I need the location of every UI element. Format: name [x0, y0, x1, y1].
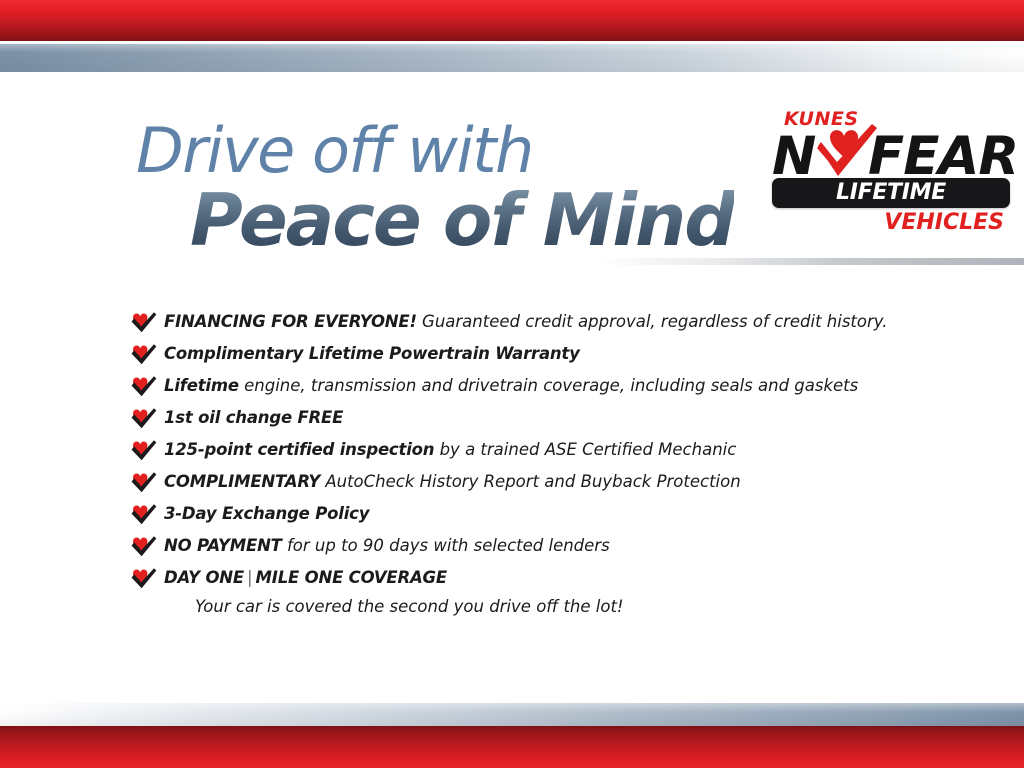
list-item-text: 3-Day Exchange Policy: [164, 498, 970, 530]
list-item: 3-Day Exchange Policy: [130, 498, 970, 530]
heart-check-icon: [130, 311, 157, 334]
top-red-bar: [0, 0, 1024, 41]
logo-certification-banner: LIFETIME CERTIFIED: [772, 178, 1010, 208]
heart-check-icon: [130, 407, 157, 430]
list-item-bold: 125-point certified inspection: [164, 440, 434, 459]
list-item: Lifetime engine, transmission and drivet…: [130, 370, 970, 402]
list-item: NO PAYMENT for up to 90 days with select…: [130, 530, 970, 562]
list-item-subtext: Your car is covered the second you drive…: [164, 594, 970, 620]
list-item-text: NO PAYMENT for up to 90 days with select…: [164, 530, 970, 562]
list-item-separator: |: [244, 568, 256, 587]
list-item-bold: Lifetime: [164, 376, 239, 395]
list-item-text: FINANCING FOR EVERYONE! Guaranteed credi…: [164, 306, 970, 338]
header: Drive off with Peace of Mind KUNES N FEA…: [0, 72, 1024, 262]
bottom-blue-bar-shading: [0, 703, 1024, 726]
heart-check-icon: [130, 375, 157, 398]
list-item-bold-post: MILE ONE COVERAGE: [256, 568, 447, 587]
benefits-list: FINANCING FOR EVERYONE! Guaranteed credi…: [130, 306, 970, 620]
page-title: Drive off with Peace of Mind: [132, 120, 734, 256]
list-item: DAY ONE|MILE ONE COVERAGE Your car is co…: [130, 562, 970, 620]
headline-line-2: Peace of Mind: [190, 184, 734, 256]
heart-check-icon: [130, 535, 157, 558]
list-item-text: COMPLIMENTARY AutoCheck History Report a…: [164, 466, 970, 498]
list-item: 125-point certified inspection by a trai…: [130, 434, 970, 466]
list-item: COMPLIMENTARY AutoCheck History Report a…: [130, 466, 970, 498]
heart-check-icon: [130, 471, 157, 494]
list-item-bold: NO PAYMENT: [164, 536, 282, 555]
list-item-text: DAY ONE|MILE ONE COVERAGE: [164, 562, 970, 594]
list-item-normal: for up to 90 days with selected lenders: [282, 536, 610, 555]
top-blue-bar-shading: [0, 44, 1024, 72]
list-item-text: Complimentary Lifetime Powertrain Warran…: [164, 338, 970, 370]
headline-line-1: Drive off with: [136, 120, 734, 182]
logo-wordmark: N FEAR: [772, 128, 1010, 180]
heart-check-icon: [130, 343, 157, 366]
bottom-red-bar: [0, 726, 1024, 768]
list-item-normal: Guaranteed credit approval, regardless o…: [417, 312, 888, 331]
list-item-text: Lifetime engine, transmission and drivet…: [164, 370, 970, 402]
list-item-bold: Complimentary Lifetime Powertrain Warran…: [164, 344, 580, 363]
heart-check-icon: [130, 439, 157, 462]
heart-check-icon: [130, 567, 157, 590]
heart-check-icon: [130, 503, 157, 526]
header-divider: [0, 258, 1024, 265]
list-item-text: 125-point certified inspection by a trai…: [164, 434, 970, 466]
logo-banner-label: LIFETIME CERTIFIED: [772, 178, 1010, 208]
list-item-bold: FINANCING FOR EVERYONE!: [164, 312, 417, 331]
logo-vehicles-label: VEHICLES: [884, 210, 1004, 235]
list-item: 1st oil change FREE: [130, 402, 970, 434]
list-item-normal: AutoCheck History Report and Buyback Pro…: [320, 472, 741, 491]
list-item-bold-pre: DAY ONE: [164, 568, 244, 587]
list-item-bold: COMPLIMENTARY: [164, 472, 320, 491]
list-item-text: 1st oil change FREE: [164, 402, 970, 434]
list-item-bold: 1st oil change FREE: [164, 408, 343, 427]
kunes-no-fear-logo: KUNES N FEAR LIFETIME CERTIFIED VEHICLES: [772, 108, 1010, 243]
list-item: FINANCING FOR EVERYONE! Guaranteed credi…: [130, 306, 970, 338]
list-item: Complimentary Lifetime Powertrain Warran…: [130, 338, 970, 370]
list-item-normal: engine, transmission and drivetrain cove…: [239, 376, 858, 395]
list-item-normal: by a trained ASE Certified Mechanic: [434, 440, 736, 459]
list-item-bold: 3-Day Exchange Policy: [164, 504, 369, 523]
